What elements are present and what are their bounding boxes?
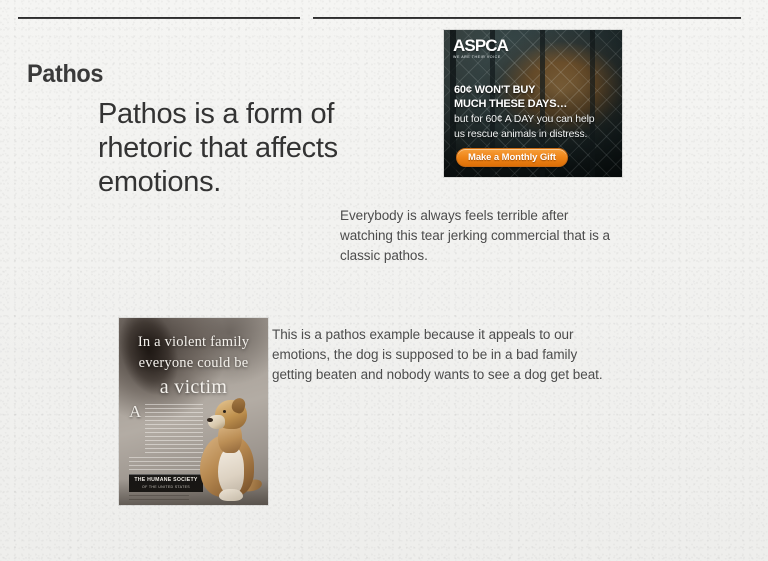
aspca-advertisement-image: ASPCA WE ARE THEIR VOICE 60¢ WON'T BUY M… <box>444 30 622 177</box>
sitting-dog-icon <box>188 383 262 501</box>
ad-headline-line-2: MUCH THESE DAYS… <box>454 98 616 112</box>
poster-headline-line-1: In a violent family <box>119 332 268 353</box>
aspca-caption: Everybody is always feels terrible after… <box>340 206 610 266</box>
humane-poster-caption: This is a pathos example because it appe… <box>272 325 616 385</box>
dog-nose <box>207 418 213 423</box>
divider-rule-left <box>18 17 300 19</box>
humane-society-poster-image: In a violent family everyone could be a … <box>119 318 268 505</box>
aspca-logo: ASPCA WE ARE THEIR VOICE <box>453 37 508 61</box>
poster-headline-line-2: everyone could be <box>119 353 268 374</box>
dog-front-leg <box>219 489 243 501</box>
ad-subhead-line-2: us rescue animals in distress. <box>454 128 616 141</box>
dog-chest <box>218 447 244 495</box>
ad-headline-line-1: 60¢ WON'T BUY <box>454 84 616 98</box>
aspca-logo-wordmark: ASPCA <box>453 37 508 54</box>
slide-canvas: Pathos Pathos is a form of rhetoric that… <box>0 0 768 561</box>
make-monthly-gift-button[interactable]: Make a Monthly Gift <box>456 148 568 167</box>
lead-paragraph: Pathos is a form of rhetoric that affect… <box>98 97 348 199</box>
ad-subhead-line-1: but for 60¢ A DAY you can help <box>454 113 616 126</box>
aspca-logo-tagline: WE ARE THEIR VOICE <box>453 54 508 61</box>
page-title: Pathos <box>27 60 103 89</box>
divider-rule-right <box>313 17 741 19</box>
aspca-ad-copy: 60¢ WON'T BUY MUCH THESE DAYS… but for 6… <box>454 84 616 141</box>
